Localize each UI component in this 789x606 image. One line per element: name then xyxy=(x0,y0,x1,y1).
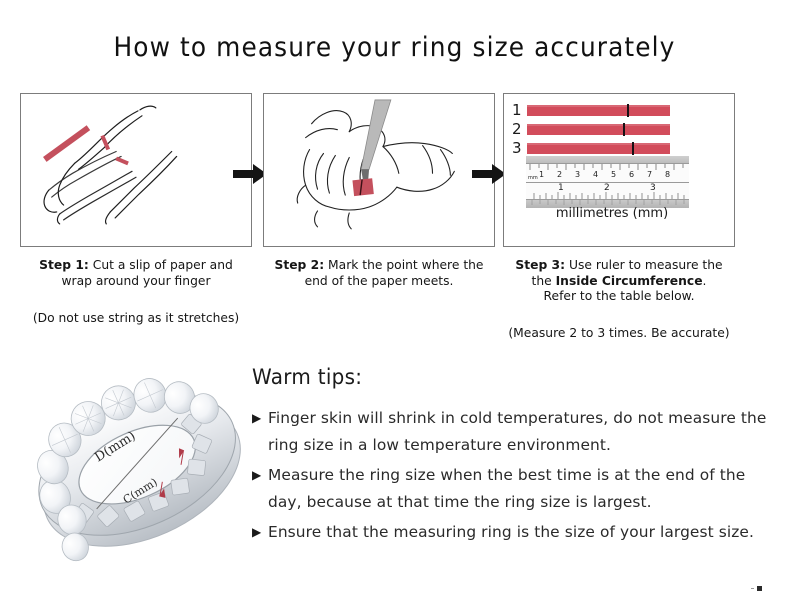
strip-number-1: 1 xyxy=(512,103,527,118)
tip-text-3: Ensure that the measuring ring is the si… xyxy=(268,519,754,546)
ruler-cm-3: 3 xyxy=(575,171,580,179)
step-3-column: 1 2 3 xyxy=(503,93,735,340)
step-3-inside-circumference: Inside Circumference xyxy=(556,274,703,288)
hand-marking-paper-with-pen-sketch xyxy=(264,94,494,247)
ruler-cm-8: 8 xyxy=(665,171,670,179)
pen-shape xyxy=(361,100,391,181)
hand-with-paper-strip-sketch xyxy=(21,94,251,247)
tip-item-1: ▶ Finger skin will shrink in cold temper… xyxy=(252,405,772,459)
step-1-caption: Step 1: Cut a slip of paper and wrap aro… xyxy=(20,258,252,289)
ruler-graphic: mm 1 2 3 4 5 6 7 8 1 2 3 xyxy=(526,156,689,208)
strip-number-2: 2 xyxy=(512,122,527,137)
bullet-triangle-icon-2: ▶ xyxy=(252,462,268,489)
strip-number-3: 3 xyxy=(512,141,527,156)
step-3-caption: Step 3: Use ruler to measure the the Ins… xyxy=(503,258,735,305)
ruler-cm-4: 4 xyxy=(593,171,598,179)
step-3-line2: the xyxy=(532,274,556,288)
step-3-line1: Use ruler to measure the xyxy=(569,258,723,272)
paper-strip-3 xyxy=(527,143,670,154)
warm-tips-heading: Warm tips: xyxy=(252,365,746,389)
tip-item-3: ▶ Ensure that the measuring ring is the … xyxy=(252,519,772,546)
strip-row-2: 2 xyxy=(512,122,670,137)
ring-size-guide-page: How to measure your ring size accurately xyxy=(0,0,789,606)
ruler-top-edge xyxy=(526,156,689,163)
step-3-line2-end: . xyxy=(703,274,707,288)
tip-text-1: Finger skin will shrink in cold temperat… xyxy=(268,405,772,459)
ruler-cm-2: 2 xyxy=(557,171,562,179)
ruler-cm-5: 5 xyxy=(611,171,616,179)
strip-row-3: 3 xyxy=(512,141,670,156)
step-1-line1: Cut a slip of paper and xyxy=(93,258,233,272)
step-2-column: Step 2: Mark the point where the end of … xyxy=(263,93,495,289)
step-1-label: Step 1: xyxy=(39,258,89,272)
step-3-line3: Refer to the table below. xyxy=(503,289,735,305)
step-2-caption: Step 2: Mark the point where the end of … xyxy=(263,258,495,289)
strip-row-1: 1 xyxy=(512,103,670,118)
step-3-image-panel: 1 2 3 xyxy=(503,93,735,247)
step-3-note: (Measure 2 to 3 times. Be accurate) xyxy=(503,326,735,340)
ruler-cm-7: 7 xyxy=(647,171,652,179)
step-1-note: (Do not use string as it stretches) xyxy=(20,311,252,325)
right-arrow-icon xyxy=(233,163,267,185)
step-2-line2: end of the paper meets. xyxy=(263,274,495,290)
step-1-column: Step 1: Cut a slip of paper and wrap aro… xyxy=(20,93,252,325)
bullet-triangle-icon-3: ▶ xyxy=(252,519,268,546)
ruler-cm-unit: mm xyxy=(528,174,538,182)
tip-item-2: ▶ Measure the ring size when the best ti… xyxy=(252,462,772,516)
ruler-cm-scale: mm 1 2 3 4 5 6 7 8 xyxy=(526,163,689,183)
paper-strip-marked xyxy=(352,178,373,196)
step-2-label: Step 2: xyxy=(274,258,324,272)
paper-strip-2 xyxy=(527,124,670,135)
step-2-line1: Mark the point where the xyxy=(328,258,483,272)
right-arrow-icon-2 xyxy=(472,163,506,185)
ruler-unit-label: millimetres (mm) xyxy=(504,206,720,221)
page-title: How to measure your ring size accurately xyxy=(32,32,758,63)
paper-strip-1 xyxy=(527,105,670,116)
strip-mark-2 xyxy=(623,123,625,136)
eternity-ring-photo: D(mm) C(mm) xyxy=(22,352,258,590)
step-2-image-panel xyxy=(263,93,495,247)
strip-mark-1 xyxy=(627,104,629,117)
strip-mark-3 xyxy=(632,142,634,155)
tip-text-2: Measure the ring size when the best time… xyxy=(268,462,772,516)
ruler-cm-6: 6 xyxy=(629,171,634,179)
ruler-cm-1: 1 xyxy=(539,171,544,179)
corner-artifact xyxy=(757,586,762,591)
step-1-image-panel xyxy=(20,93,252,247)
ruler-inch-scale: 1 2 3 xyxy=(526,183,689,200)
warm-tips-section: Warm tips: ▶ Finger skin will shrink in … xyxy=(252,365,772,549)
bullet-triangle-icon: ▶ xyxy=(252,405,268,432)
step-3-label: Step 3: xyxy=(515,258,565,272)
step-1-line2: wrap around your finger xyxy=(20,274,252,290)
